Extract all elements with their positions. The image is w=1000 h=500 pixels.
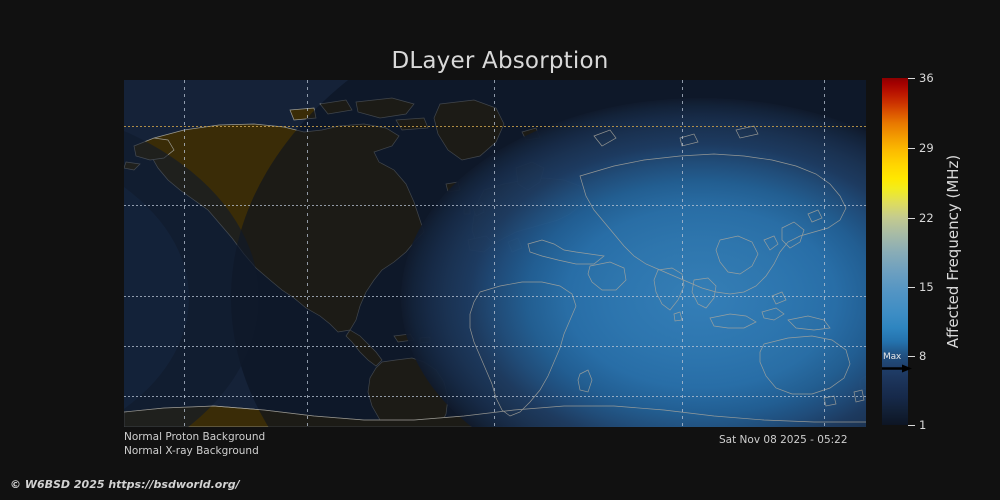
world-map-panel[interactable] — [124, 80, 866, 427]
colorbar-tick-36 — [908, 78, 915, 79]
colorbar-tick-22 — [908, 218, 915, 219]
xray-background-status: Normal X-ray Background — [124, 445, 259, 457]
colorbar-axis-label: Affected Frequency (MHz) — [944, 78, 966, 425]
colorbar-label-1: 1 — [919, 418, 926, 432]
colorbar-max-marker: Max — [882, 352, 916, 374]
colorbar-label-29: 29 — [919, 141, 934, 155]
max-marker-label: Max — [883, 352, 901, 362]
colorbar-label-15: 15 — [919, 280, 934, 294]
copyright-notice: © W6BSD 2025 https://bsdworld.org/ — [10, 478, 240, 491]
proton-background-status: Normal Proton Background — [124, 431, 265, 443]
colorbar-label-8: 8 — [919, 349, 926, 363]
right-arrow-icon — [882, 364, 912, 373]
colorbar-tick-15 — [908, 287, 915, 288]
colorbar-tick-29 — [908, 148, 915, 149]
map-graphic — [124, 80, 866, 427]
page-title: DLayer Absorption — [0, 48, 1000, 74]
colorbar-label-36: 36 — [919, 71, 934, 85]
timestamp: Sat Nov 08 2025 - 05:22 — [719, 434, 848, 446]
colorbar-label-22: 22 — [919, 211, 934, 225]
colorbar-tick-1 — [908, 425, 915, 426]
